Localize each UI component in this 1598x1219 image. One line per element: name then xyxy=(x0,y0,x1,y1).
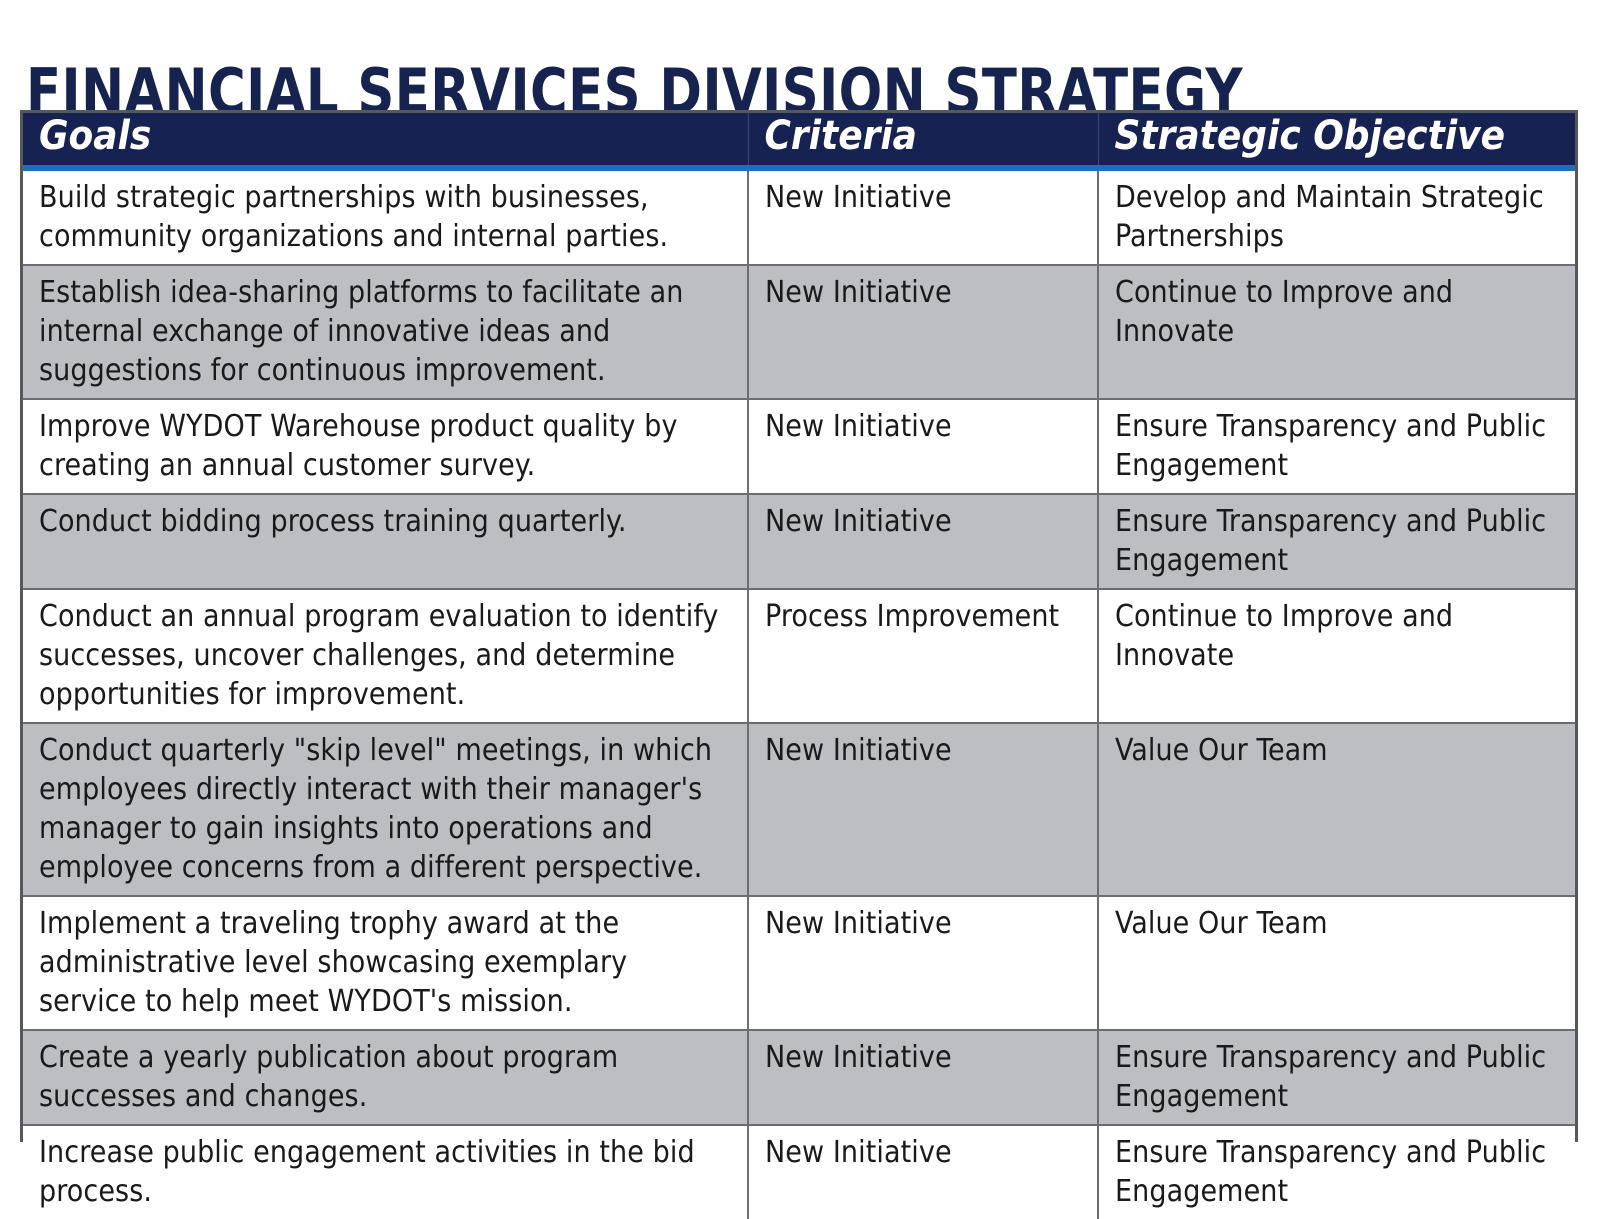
strategy-table-container: Goals Criteria Strategic Objective Build… xyxy=(20,110,1578,1142)
cell-criteria: New Initiative xyxy=(748,399,1098,494)
cell-goals-text: Build strategic partnerships with busine… xyxy=(39,178,733,256)
cell-criteria: New Initiative xyxy=(748,723,1098,896)
cell-goals: Conduct quarterly "skip level" meetings,… xyxy=(23,723,748,896)
cell-goals: Improve WYDOT Warehouse product quality … xyxy=(23,399,748,494)
table-row: Improve WYDOT Warehouse product quality … xyxy=(23,399,1575,494)
cell-goals-text: Conduct quarterly "skip level" meetings,… xyxy=(39,731,733,887)
cell-criteria-text: New Initiative xyxy=(765,178,1083,217)
table-row: Create a yearly publication about progra… xyxy=(23,1030,1575,1125)
cell-strategic-objective: Ensure Transparency and Public Engagemen… xyxy=(1098,494,1575,589)
cell-goals-text: Increase public engagement activities in… xyxy=(39,1133,733,1211)
cell-goals-text: Implement a traveling trophy award at th… xyxy=(39,904,733,1021)
cell-goals-text: Establish idea-sharing platforms to faci… xyxy=(39,273,733,390)
cell-criteria: New Initiative xyxy=(748,1030,1098,1125)
cell-goals-text: Create a yearly publication about progra… xyxy=(39,1038,733,1116)
table-row: Conduct an annual program evaluation to … xyxy=(23,589,1575,723)
cell-strategic-objective-text: Continue to Improve and Innovate xyxy=(1115,597,1561,675)
cell-criteria-text: New Initiative xyxy=(765,904,1083,943)
cell-strategic-objective-text: Develop and Maintain Strategic Partnersh… xyxy=(1115,178,1561,256)
cell-strategic-objective: Value Our Team xyxy=(1098,723,1575,896)
cell-goals: Conduct an annual program evaluation to … xyxy=(23,589,748,723)
cell-strategic-objective: Continue to Improve and Innovate xyxy=(1098,589,1575,723)
strategy-table: Goals Criteria Strategic Objective Build… xyxy=(23,113,1575,1219)
table-row: Establish idea-sharing platforms to faci… xyxy=(23,265,1575,399)
cell-strategic-objective: Value Our Team xyxy=(1098,896,1575,1030)
column-header-criteria: Criteria xyxy=(748,113,1098,168)
cell-goals-text: Improve WYDOT Warehouse product quality … xyxy=(39,407,733,485)
cell-strategic-objective: Ensure Transparency and Public Engagemen… xyxy=(1098,1125,1575,1219)
table-row: Build strategic partnerships with busine… xyxy=(23,168,1575,265)
cell-criteria: New Initiative xyxy=(748,265,1098,399)
table-row: Conduct bidding process training quarter… xyxy=(23,494,1575,589)
cell-strategic-objective-text: Value Our Team xyxy=(1115,731,1561,770)
table-body: Build strategic partnerships with busine… xyxy=(23,168,1575,1219)
cell-goals: Implement a traveling trophy award at th… xyxy=(23,896,748,1030)
cell-criteria-text: New Initiative xyxy=(765,273,1083,312)
table-row: Conduct quarterly "skip level" meetings,… xyxy=(23,723,1575,896)
cell-goals: Establish idea-sharing platforms to faci… xyxy=(23,265,748,399)
cell-strategic-objective: Ensure Transparency and Public Engagemen… xyxy=(1098,399,1575,494)
cell-criteria-text: New Initiative xyxy=(765,1133,1083,1172)
cell-criteria: New Initiative xyxy=(748,896,1098,1030)
cell-criteria: New Initiative xyxy=(748,1125,1098,1219)
cell-goals: Build strategic partnerships with busine… xyxy=(23,168,748,265)
cell-criteria: New Initiative xyxy=(748,168,1098,265)
cell-goals: Create a yearly publication about progra… xyxy=(23,1030,748,1125)
table-header: Goals Criteria Strategic Objective xyxy=(23,113,1575,168)
cell-strategic-objective-text: Value Our Team xyxy=(1115,904,1561,943)
cell-goals-text: Conduct bidding process training quarter… xyxy=(39,502,733,541)
table-header-row: Goals Criteria Strategic Objective xyxy=(23,113,1575,168)
strategy-page: FINANCIAL SERVICES DIVISION STRATEGY Goa… xyxy=(0,0,1598,1169)
cell-strategic-objective-text: Ensure Transparency and Public Engagemen… xyxy=(1115,1133,1561,1211)
cell-goals: Conduct bidding process training quarter… xyxy=(23,494,748,589)
table-row: Increase public engagement activities in… xyxy=(23,1125,1575,1219)
column-header-goals: Goals xyxy=(23,113,748,168)
column-header-strategic-objective: Strategic Objective xyxy=(1098,113,1575,168)
cell-strategic-objective: Continue to Improve and Innovate xyxy=(1098,265,1575,399)
cell-criteria-text: New Initiative xyxy=(765,1038,1083,1077)
cell-strategic-objective-text: Ensure Transparency and Public Engagemen… xyxy=(1115,407,1561,485)
cell-criteria: New Initiative xyxy=(748,494,1098,589)
cell-strategic-objective: Develop and Maintain Strategic Partnersh… xyxy=(1098,168,1575,265)
cell-strategic-objective-text: Continue to Improve and Innovate xyxy=(1115,273,1561,351)
table-row: Implement a traveling trophy award at th… xyxy=(23,896,1575,1030)
cell-criteria-text: New Initiative xyxy=(765,407,1083,446)
cell-criteria-text: New Initiative xyxy=(765,502,1083,541)
cell-criteria: Process Improvement xyxy=(748,589,1098,723)
cell-criteria-text: New Initiative xyxy=(765,731,1083,770)
cell-criteria-text: Process Improvement xyxy=(765,597,1083,636)
cell-goals-text: Conduct an annual program evaluation to … xyxy=(39,597,733,714)
cell-goals: Increase public engagement activities in… xyxy=(23,1125,748,1219)
cell-strategic-objective-text: Ensure Transparency and Public Engagemen… xyxy=(1115,502,1561,580)
cell-strategic-objective-text: Ensure Transparency and Public Engagemen… xyxy=(1115,1038,1561,1116)
cell-strategic-objective: Ensure Transparency and Public Engagemen… xyxy=(1098,1030,1575,1125)
